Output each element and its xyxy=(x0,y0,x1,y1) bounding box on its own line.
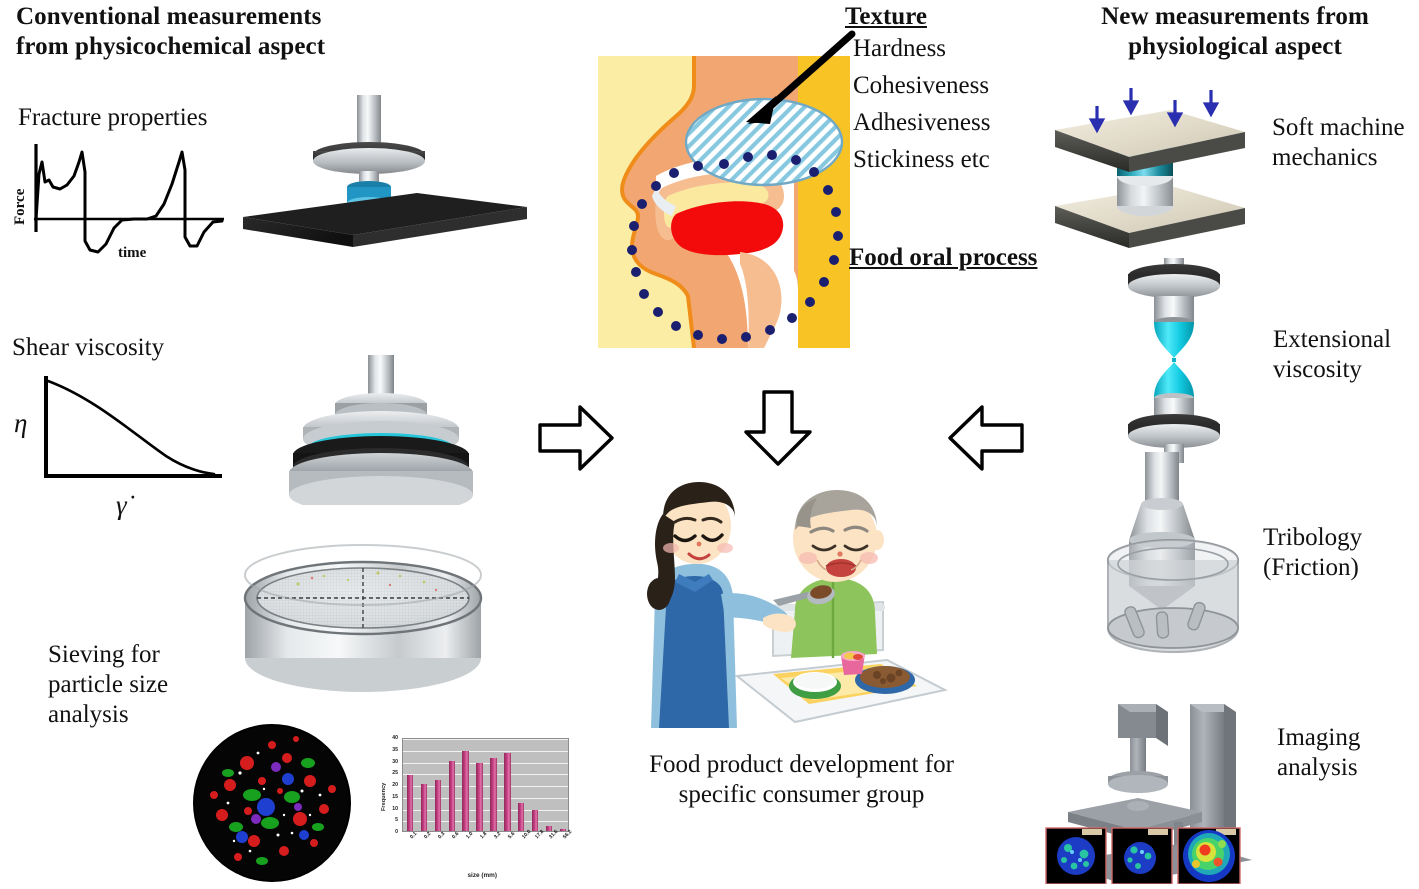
chart-x-tick: 0.2 xyxy=(423,831,432,840)
chart-bar xyxy=(504,753,510,831)
shear-viscosity-y-axis-label: η xyxy=(14,408,27,439)
chart-gridline xyxy=(403,821,568,822)
food-oral-process-title: Food oral process xyxy=(849,243,1037,273)
chart-x-tick: 1.8 xyxy=(479,831,488,840)
chart-gridline xyxy=(403,763,568,764)
caregiver-feeding-illustration xyxy=(645,478,950,728)
rotational-rheometer-icon xyxy=(232,355,532,505)
arrow-right-to-center xyxy=(538,403,614,473)
texture-item-adhesiveness: Adhesiveness xyxy=(853,108,990,138)
particle-analysis-image xyxy=(192,723,352,883)
chart-y-tick: 35 xyxy=(372,747,398,753)
chart-bar xyxy=(421,784,427,831)
texture-analyzer-icon xyxy=(1042,702,1262,884)
chart-x-tick: 0.6 xyxy=(451,831,460,840)
soft-machine-mechanics-label: Soft machine mechanics xyxy=(1272,113,1419,173)
chart-bar xyxy=(560,829,566,831)
sieve-icon xyxy=(228,540,498,705)
tribology-label: Tribology (Friction) xyxy=(1263,523,1418,583)
filament-stretch-icon xyxy=(1102,258,1254,463)
fracture-x-axis-label: time xyxy=(118,245,146,262)
texture-pointer-arrow xyxy=(740,28,860,124)
shear-viscosity-x-axis-label: γ̇ xyxy=(116,490,127,521)
chart-bar xyxy=(546,826,552,831)
chart-x-axis-label: size (mm) xyxy=(468,872,497,879)
fracture-y-axis-label: Force xyxy=(12,189,29,225)
extensional-viscosity-label: Extensional viscosity xyxy=(1273,325,1419,385)
chart-y-axis-label: Frequency xyxy=(381,783,387,811)
chart-bar xyxy=(435,780,441,831)
chart-gridline xyxy=(403,810,568,811)
arrow-left-to-center xyxy=(948,403,1024,473)
compression-plates-icon xyxy=(1033,78,1265,258)
chart-x-tick: 3.2 xyxy=(493,831,502,840)
chart-y-tick: 25 xyxy=(372,770,398,776)
chart-y-tick: 30 xyxy=(372,759,398,765)
left-column-header: Conventional measurements from physicoch… xyxy=(16,2,346,61)
fracture-properties-title: Fracture properties xyxy=(18,103,208,133)
chart-bar xyxy=(490,758,496,831)
tribology-cup-icon xyxy=(1085,452,1265,677)
outcome-caption: Food product development for specific co… xyxy=(614,750,989,810)
chart-bar xyxy=(407,775,413,831)
chart-plot-area xyxy=(402,738,569,832)
imaging-analysis-label: Imaging analysis xyxy=(1277,723,1417,783)
chart-y-tick: 0 xyxy=(372,829,398,835)
chart-gridline xyxy=(403,739,568,740)
texture-analyzer-probe-icon xyxy=(235,95,535,255)
chart-x-tick: 0.3 xyxy=(437,831,446,840)
chart-bar xyxy=(449,761,455,832)
chart-x-tick: 0.1 xyxy=(409,831,418,840)
chart-bar xyxy=(532,810,538,831)
chart-bar xyxy=(476,763,482,831)
chart-x-tick: 1.0 xyxy=(465,831,474,840)
chart-bar xyxy=(462,751,468,831)
chart-gridline xyxy=(403,798,568,799)
sieving-label: Sieving for particle size analysis xyxy=(48,640,223,730)
arrow-down-to-center xyxy=(742,390,814,466)
texture-title: Texture xyxy=(845,2,927,32)
shear-viscosity-chart xyxy=(14,368,229,496)
chart-gridline xyxy=(403,774,568,775)
chart-y-tick: 5 xyxy=(372,817,398,823)
chart-bar xyxy=(518,803,524,831)
texture-item-stickiness: Stickiness etc xyxy=(853,145,990,175)
particle-size-frequency-chart: 05101520253035400.10.20.30.61.01.83.25.6… xyxy=(372,732,577,884)
chart-gridline xyxy=(403,786,568,787)
chart-x-tick: 5.6 xyxy=(507,831,516,840)
chart-y-tick: 40 xyxy=(372,735,398,741)
chart-gridline xyxy=(403,751,568,752)
texture-item-cohesiveness: Cohesiveness xyxy=(853,71,989,101)
texture-item-hardness: Hardness xyxy=(853,34,946,64)
right-column-header: New measurements from physiological aspe… xyxy=(1060,2,1410,61)
shear-viscosity-title: Shear viscosity xyxy=(12,333,164,363)
